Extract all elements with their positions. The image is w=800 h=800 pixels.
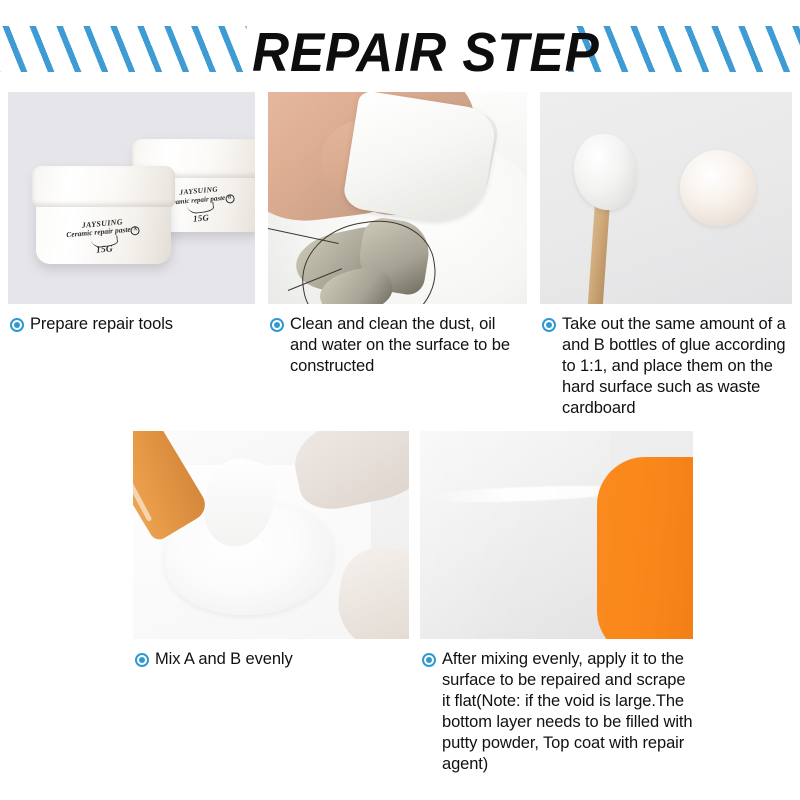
surface-sheen	[420, 431, 610, 639]
diagonal-stripes-left-decoration	[0, 26, 252, 72]
bullet-point-icon	[422, 653, 436, 667]
bullet-point-icon	[10, 318, 24, 332]
diagonal-stripes-right-decoration	[568, 26, 800, 72]
page-title: REPAIR STEP	[247, 22, 554, 82]
page-header: REPAIR STEP	[0, 0, 800, 92]
steps-row-top: JAYSUING Ceramic repair pasteB 15G JAYSU…	[0, 92, 800, 419]
paste-blob-round	[680, 150, 756, 226]
step-1-caption: Prepare repair tools	[8, 314, 255, 335]
jar-a-mark: A	[130, 226, 140, 236]
step-3-caption-text: Take out the same amount of a and B bott…	[562, 314, 792, 419]
step-1-caption-text: Prepare repair tools	[30, 314, 173, 335]
step-card-4: Mix A and B evenly	[133, 431, 409, 775]
step-1-image: JAYSUING Ceramic repair pasteB 15G JAYSU…	[8, 92, 255, 304]
steps-row-bottom: Mix A and B evenly After mixing evenly, …	[0, 431, 800, 775]
step-3-image	[540, 92, 792, 304]
step-card-5: After mixing evenly, apply it to the sur…	[420, 431, 693, 775]
step-card-2: Clean and clean the dust, oil and water …	[268, 92, 527, 419]
bullet-point-icon	[542, 318, 556, 332]
step-card-1: JAYSUING Ceramic repair pasteB 15G JAYSU…	[8, 92, 255, 419]
step-2-image	[268, 92, 527, 304]
jar-b-mark: B	[225, 194, 235, 204]
step-4-image	[133, 431, 409, 639]
step-5-caption-text: After mixing evenly, apply it to the sur…	[442, 649, 693, 775]
step-3-caption: Take out the same amount of a and B bott…	[540, 314, 792, 419]
jar-a: JAYSUING Ceramic repair pasteA 15G	[36, 167, 171, 264]
step-2-caption-text: Clean and clean the dust, oil and water …	[290, 314, 527, 377]
step-4-caption: Mix A and B evenly	[133, 649, 409, 670]
bullet-point-icon	[270, 318, 284, 332]
jar-a-lid	[32, 166, 175, 207]
orange-scraper	[597, 457, 693, 639]
step-5-image	[420, 431, 693, 639]
bullet-point-icon	[135, 653, 149, 667]
step-5-caption: After mixing evenly, apply it to the sur…	[420, 649, 693, 775]
step-2-caption: Clean and clean the dust, oil and water …	[268, 314, 527, 377]
step-4-caption-text: Mix A and B evenly	[155, 649, 293, 670]
step-card-3: Take out the same amount of a and B bott…	[540, 92, 792, 419]
